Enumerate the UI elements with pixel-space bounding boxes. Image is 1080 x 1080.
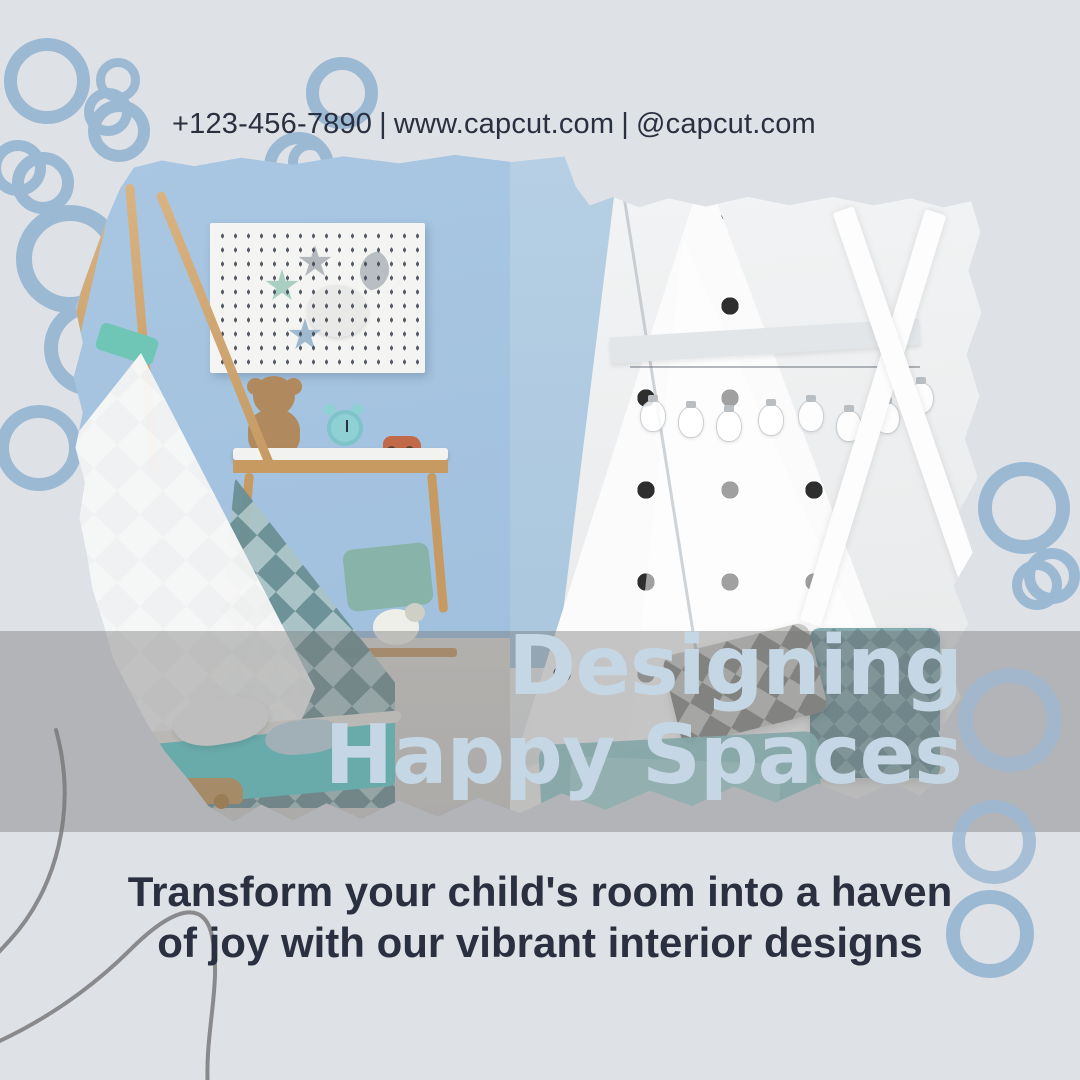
contact-separator: | (621, 108, 629, 140)
sheep-head (405, 603, 425, 622)
decor-ring (958, 668, 1062, 772)
contact-phone[interactable]: +123-456-7890 (172, 108, 372, 140)
light-bulb (678, 406, 704, 438)
decor-ring (946, 890, 1034, 978)
contact-handle[interactable]: @capcut.com (636, 108, 816, 140)
contact-website[interactable]: www.capcut.com (394, 108, 614, 140)
poster-canvas: +123-456-7890|www.capcut.com|@capcut.com (0, 0, 1080, 1080)
subtitle-line-1: Transform your child's room into a haven (104, 866, 976, 917)
decor-ring (952, 800, 1036, 884)
tent-teal-band (94, 321, 160, 366)
decor-ring (4, 38, 90, 124)
subtitle-line-2: of joy with our vibrant interior designs (104, 917, 976, 968)
light-bulb (716, 410, 742, 442)
light-bulb (758, 404, 784, 436)
light-bulb (798, 400, 824, 432)
contact-separator: | (379, 108, 387, 140)
decor-ring (978, 462, 1070, 554)
title-line-2: Happy Spaces (325, 717, 962, 796)
decor-ring (1012, 560, 1062, 610)
light-bulb (640, 400, 666, 432)
hero-title: Designing Happy Spaces (325, 628, 962, 795)
hero-subtitle: Transform your child's room into a haven… (0, 866, 1080, 968)
title-line-1: Designing (325, 628, 962, 707)
contact-header: +123-456-7890|www.capcut.com|@capcut.com (172, 108, 816, 141)
